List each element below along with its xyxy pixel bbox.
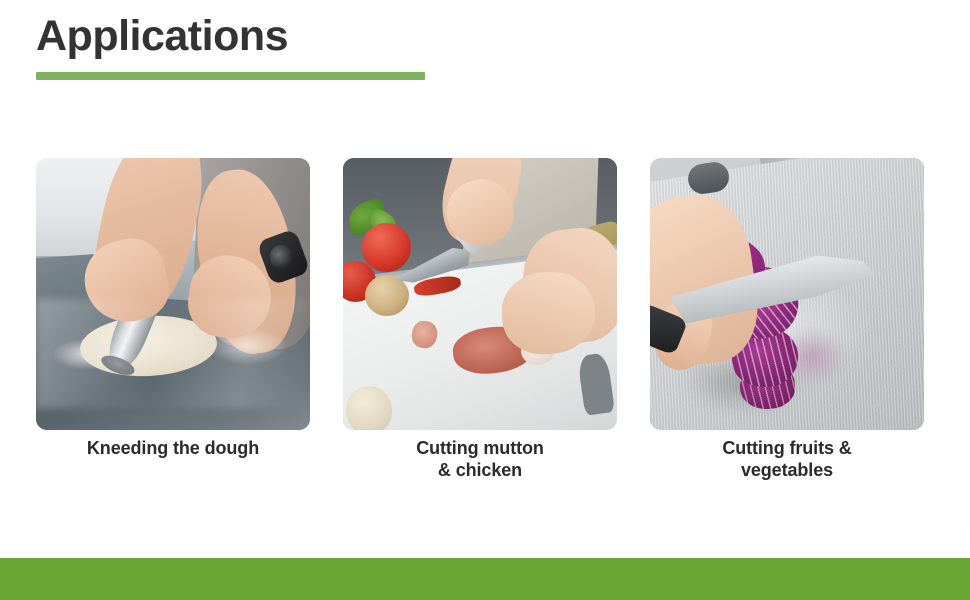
application-card-1 xyxy=(36,158,310,430)
caption-line-1: Cutting mutton xyxy=(416,438,544,458)
caption-line-1: Cutting fruits & xyxy=(722,438,851,458)
title-underline-rule xyxy=(36,72,425,80)
bottom-green-band xyxy=(0,558,970,600)
egg xyxy=(346,386,393,430)
applications-page: Applications xyxy=(0,0,970,600)
cutting-mutton-chicken-photo xyxy=(343,158,617,430)
caption-line-2: vegetables xyxy=(650,460,924,482)
application-captions-row: Kneeding the dough Cutting mutton & chic… xyxy=(36,438,924,498)
caption-kneading-dough: Kneeding the dough xyxy=(36,438,310,498)
knife-blade xyxy=(392,246,473,283)
application-card-2 xyxy=(343,158,617,430)
cutting-fruits-vegetables-photo xyxy=(650,158,924,430)
caption-line-1: Kneeding the dough xyxy=(87,438,259,458)
caption-line-2: & chicken xyxy=(343,460,617,482)
page-title: Applications xyxy=(36,14,288,59)
caption-cutting-fruits-vegetables: Cutting fruits & vegetables xyxy=(650,438,924,498)
kneading-dough-photo xyxy=(36,158,310,430)
caption-cutting-mutton-chicken: Cutting mutton & chicken xyxy=(343,438,617,498)
application-card-3 xyxy=(650,158,924,430)
application-cards-row xyxy=(36,158,924,430)
board-reflection xyxy=(36,299,310,408)
